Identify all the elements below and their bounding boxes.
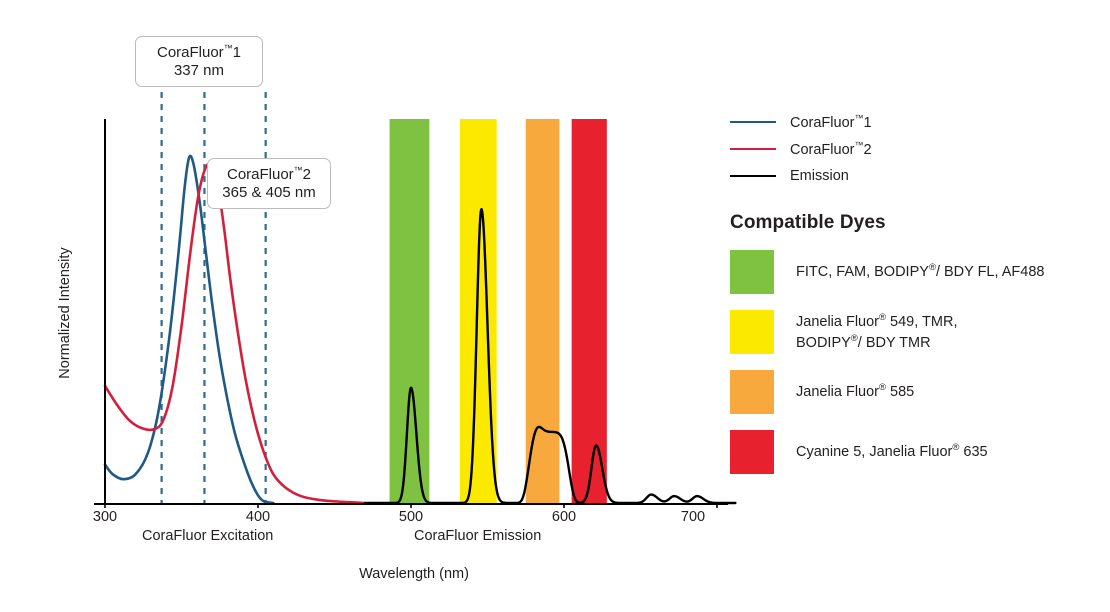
dye-text-suffix: 549, TMR, xyxy=(886,314,957,330)
dye-text: Janelia Fluor xyxy=(796,314,879,330)
legend-line-swatch-emission xyxy=(730,175,776,177)
legend-label-base: CoraFluor xyxy=(790,114,854,130)
dye-color-swatch-yellow xyxy=(730,310,774,354)
legend-label-suffix: 1 xyxy=(863,114,871,130)
dye-label-orange: Janelia Fluor® 585 xyxy=(796,382,914,403)
annotation-cf2-index: 2 xyxy=(303,166,311,183)
dye-label-yellow: Janelia Fluor® 549, TMR, BODIPY®/ BDY TM… xyxy=(796,311,957,353)
dye-label-line1: Janelia Fluor® 585 xyxy=(796,384,914,400)
series-legend: CoraFluor™1 CoraFluor™2 Emission xyxy=(730,108,1100,189)
legend-line-swatch-corafluor1 xyxy=(730,121,776,123)
legend-item-corafluor2: CoraFluor™2 xyxy=(730,135,1100,162)
dye-color-swatch-green xyxy=(730,250,774,294)
annotation-cf1-name: CoraFluor xyxy=(157,44,224,61)
x-tick-label-600: 600 xyxy=(534,509,594,525)
annotation-corafluor1: CoraFluor™1 337 nm xyxy=(135,36,263,87)
x-axis-title: Wavelength (nm) xyxy=(0,566,828,582)
registered-symbol: ® xyxy=(851,333,858,344)
excitation-marker-lines-group xyxy=(162,92,266,503)
dye-label-line1: Cyanine 5, Janelia Fluor® 635 xyxy=(796,444,988,460)
legend-item-emission: Emission xyxy=(730,162,1100,189)
dye-text2: BODIPY xyxy=(796,335,851,351)
dye-bands-group xyxy=(390,119,607,503)
legend-line-swatch-corafluor2 xyxy=(730,148,776,150)
annotation-corafluor1-line1: CoraFluor™1 xyxy=(146,43,252,62)
legend-item-corafluor1: CoraFluor™1 xyxy=(730,108,1100,135)
registered-symbol: ® xyxy=(929,263,936,274)
red-band xyxy=(572,119,607,503)
dye-item-yellow: Janelia Fluor® 549, TMR, BODIPY®/ BDY TM… xyxy=(730,310,1100,354)
green-band xyxy=(390,119,430,503)
x-tick-label-500: 500 xyxy=(381,509,441,525)
annotation-corafluor2-line2: 365 & 405 nm xyxy=(218,184,320,202)
dye-item-orange: Janelia Fluor® 585 xyxy=(730,370,1100,414)
annotation-corafluor2: CoraFluor™2 365 & 405 nm xyxy=(207,158,331,209)
x-tick-label-700: 700 xyxy=(663,509,723,525)
dye-label-green: FITC, FAM, BODIPY®/ BDY FL, AF488 xyxy=(796,262,1044,283)
legend-label-emission: Emission xyxy=(790,168,849,184)
dye-text: Cyanine 5, Janelia Fluor xyxy=(796,444,952,460)
legend-panel: CoraFluor™1 CoraFluor™2 Emission Compati… xyxy=(730,108,1100,474)
emission-region-label: CoraFluor Emission xyxy=(414,528,541,544)
dye-color-swatch-orange xyxy=(730,370,774,414)
trademark-symbol: ™ xyxy=(294,165,303,175)
dye-text-suffix: / BDY FL, AF488 xyxy=(936,264,1045,280)
dye-item-green: FITC, FAM, BODIPY®/ BDY FL, AF488 xyxy=(730,250,1100,294)
dye-text: FITC, FAM, BODIPY xyxy=(796,264,929,280)
legend-label-base: CoraFluor xyxy=(790,141,854,157)
legend-label-corafluor2: CoraFluor™2 xyxy=(790,140,872,158)
annotation-corafluor2-line1: CoraFluor™2 xyxy=(218,165,320,184)
annotation-corafluor1-line2: 337 nm xyxy=(146,62,252,80)
dye-text-suffix: 635 xyxy=(959,444,987,460)
y-axis-title: Normalized Intensity xyxy=(57,223,73,403)
dye-text-suffix: 585 xyxy=(886,384,914,400)
registered-symbol: ® xyxy=(879,383,886,394)
dye-text: Janelia Fluor xyxy=(796,384,879,400)
annotation-cf1-index: 1 xyxy=(233,44,241,61)
dye-label-line2: BODIPY®/ BDY TMR xyxy=(796,332,957,353)
dye-label-line1: FITC, FAM, BODIPY®/ BDY FL, AF488 xyxy=(796,264,1044,280)
fluorescence-spectra-figure: Normalized Intensity 300 400 500 600 700… xyxy=(0,0,1110,612)
legend-label-corafluor1: CoraFluor™1 xyxy=(790,113,872,131)
curve-corafluor2 xyxy=(105,164,365,503)
dye-label-red: Cyanine 5, Janelia Fluor® 635 xyxy=(796,442,988,463)
dye-text2-suffix: / BDY TMR xyxy=(858,335,931,351)
annotation-cf2-name: CoraFluor xyxy=(227,166,294,183)
compatible-dyes-heading: Compatible Dyes xyxy=(730,212,1100,234)
dye-item-red: Cyanine 5, Janelia Fluor® 635 xyxy=(730,430,1100,474)
x-tick-label-300: 300 xyxy=(75,509,135,525)
yellow-band xyxy=(460,119,497,503)
dye-label-line1: Janelia Fluor® 549, TMR, xyxy=(796,314,957,330)
legend-label-suffix: 2 xyxy=(863,141,871,157)
dye-color-swatch-red xyxy=(730,430,774,474)
excitation-region-label: CoraFluor Excitation xyxy=(142,528,273,544)
registered-symbol: ® xyxy=(879,312,886,323)
trademark-symbol: ™ xyxy=(224,43,233,53)
x-tick-label-400: 400 xyxy=(228,509,288,525)
orange-band xyxy=(526,119,560,503)
